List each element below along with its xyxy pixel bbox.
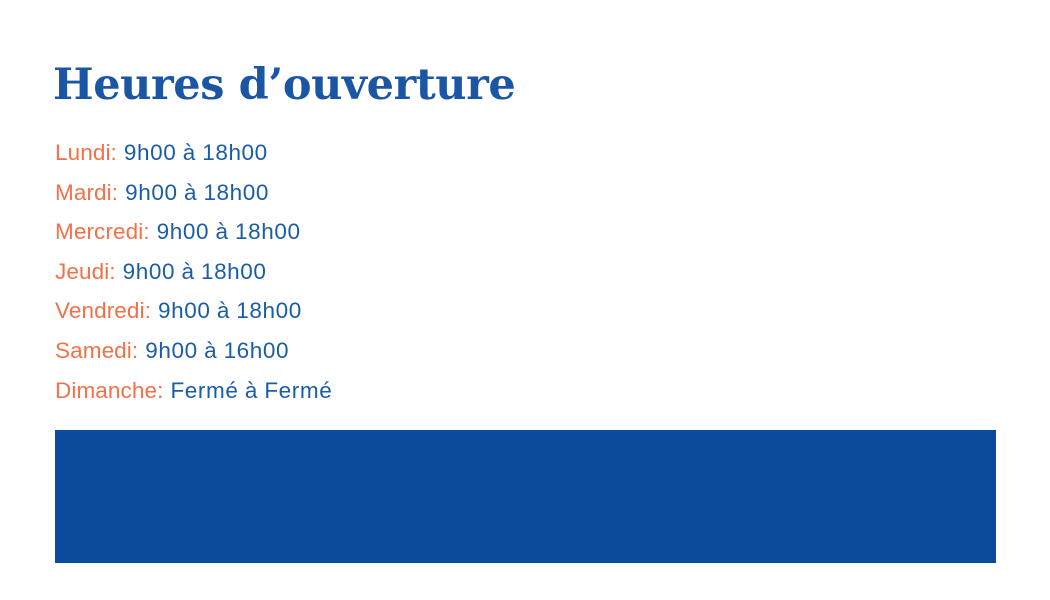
close-time: 18h00 (201, 259, 267, 284)
open-time: 9h00 (125, 180, 177, 205)
open-time: Fermé (170, 378, 238, 403)
day-label: Mardi: (55, 180, 118, 205)
list-item: Jeudi:9h00 à 18h00 (55, 252, 955, 292)
open-time: 9h00 (145, 338, 197, 363)
close-time: 16h00 (224, 338, 290, 363)
close-time: 18h00 (202, 140, 268, 165)
time-separator: à (184, 180, 197, 205)
time-separator: à (245, 378, 258, 403)
list-item: Samedi:9h00 à 16h00 (55, 331, 955, 371)
list-item: Lundi:9h00 à 18h00 (55, 133, 955, 173)
day-label: Lundi: (55, 140, 117, 165)
time-separator: à (216, 219, 229, 244)
time-separator: à (183, 140, 196, 165)
open-time: 9h00 (158, 298, 210, 323)
opening-hours-list: Lundi:9h00 à 18h00 Mardi:9h00 à 18h00 Me… (55, 133, 955, 410)
open-time: 9h00 (157, 219, 209, 244)
banner-block (55, 430, 996, 563)
open-time: 9h00 (124, 140, 176, 165)
day-label: Dimanche: (55, 378, 163, 403)
list-item: Vendredi:9h00 à 18h00 (55, 291, 955, 331)
list-item: Mercredi:9h00 à 18h00 (55, 212, 955, 252)
time-separator: à (217, 298, 230, 323)
close-time: Fermé (264, 378, 332, 403)
day-label: Mercredi: (55, 219, 150, 244)
close-time: 18h00 (235, 219, 301, 244)
open-time: 9h00 (123, 259, 175, 284)
day-label: Vendredi: (55, 298, 151, 323)
day-label: Jeudi: (55, 259, 116, 284)
slide-canvas: Heures d’ouverture Lundi:9h00 à 18h00 Ma… (0, 0, 1050, 600)
list-item: Mardi:9h00 à 18h00 (55, 173, 955, 213)
list-item: Dimanche:Fermé à Fermé (55, 371, 955, 411)
day-label: Samedi: (55, 338, 138, 363)
page-title: Heures d’ouverture (53, 60, 515, 110)
time-separator: à (204, 338, 217, 363)
close-time: 18h00 (236, 298, 302, 323)
close-time: 18h00 (203, 180, 269, 205)
time-separator: à (181, 259, 194, 284)
